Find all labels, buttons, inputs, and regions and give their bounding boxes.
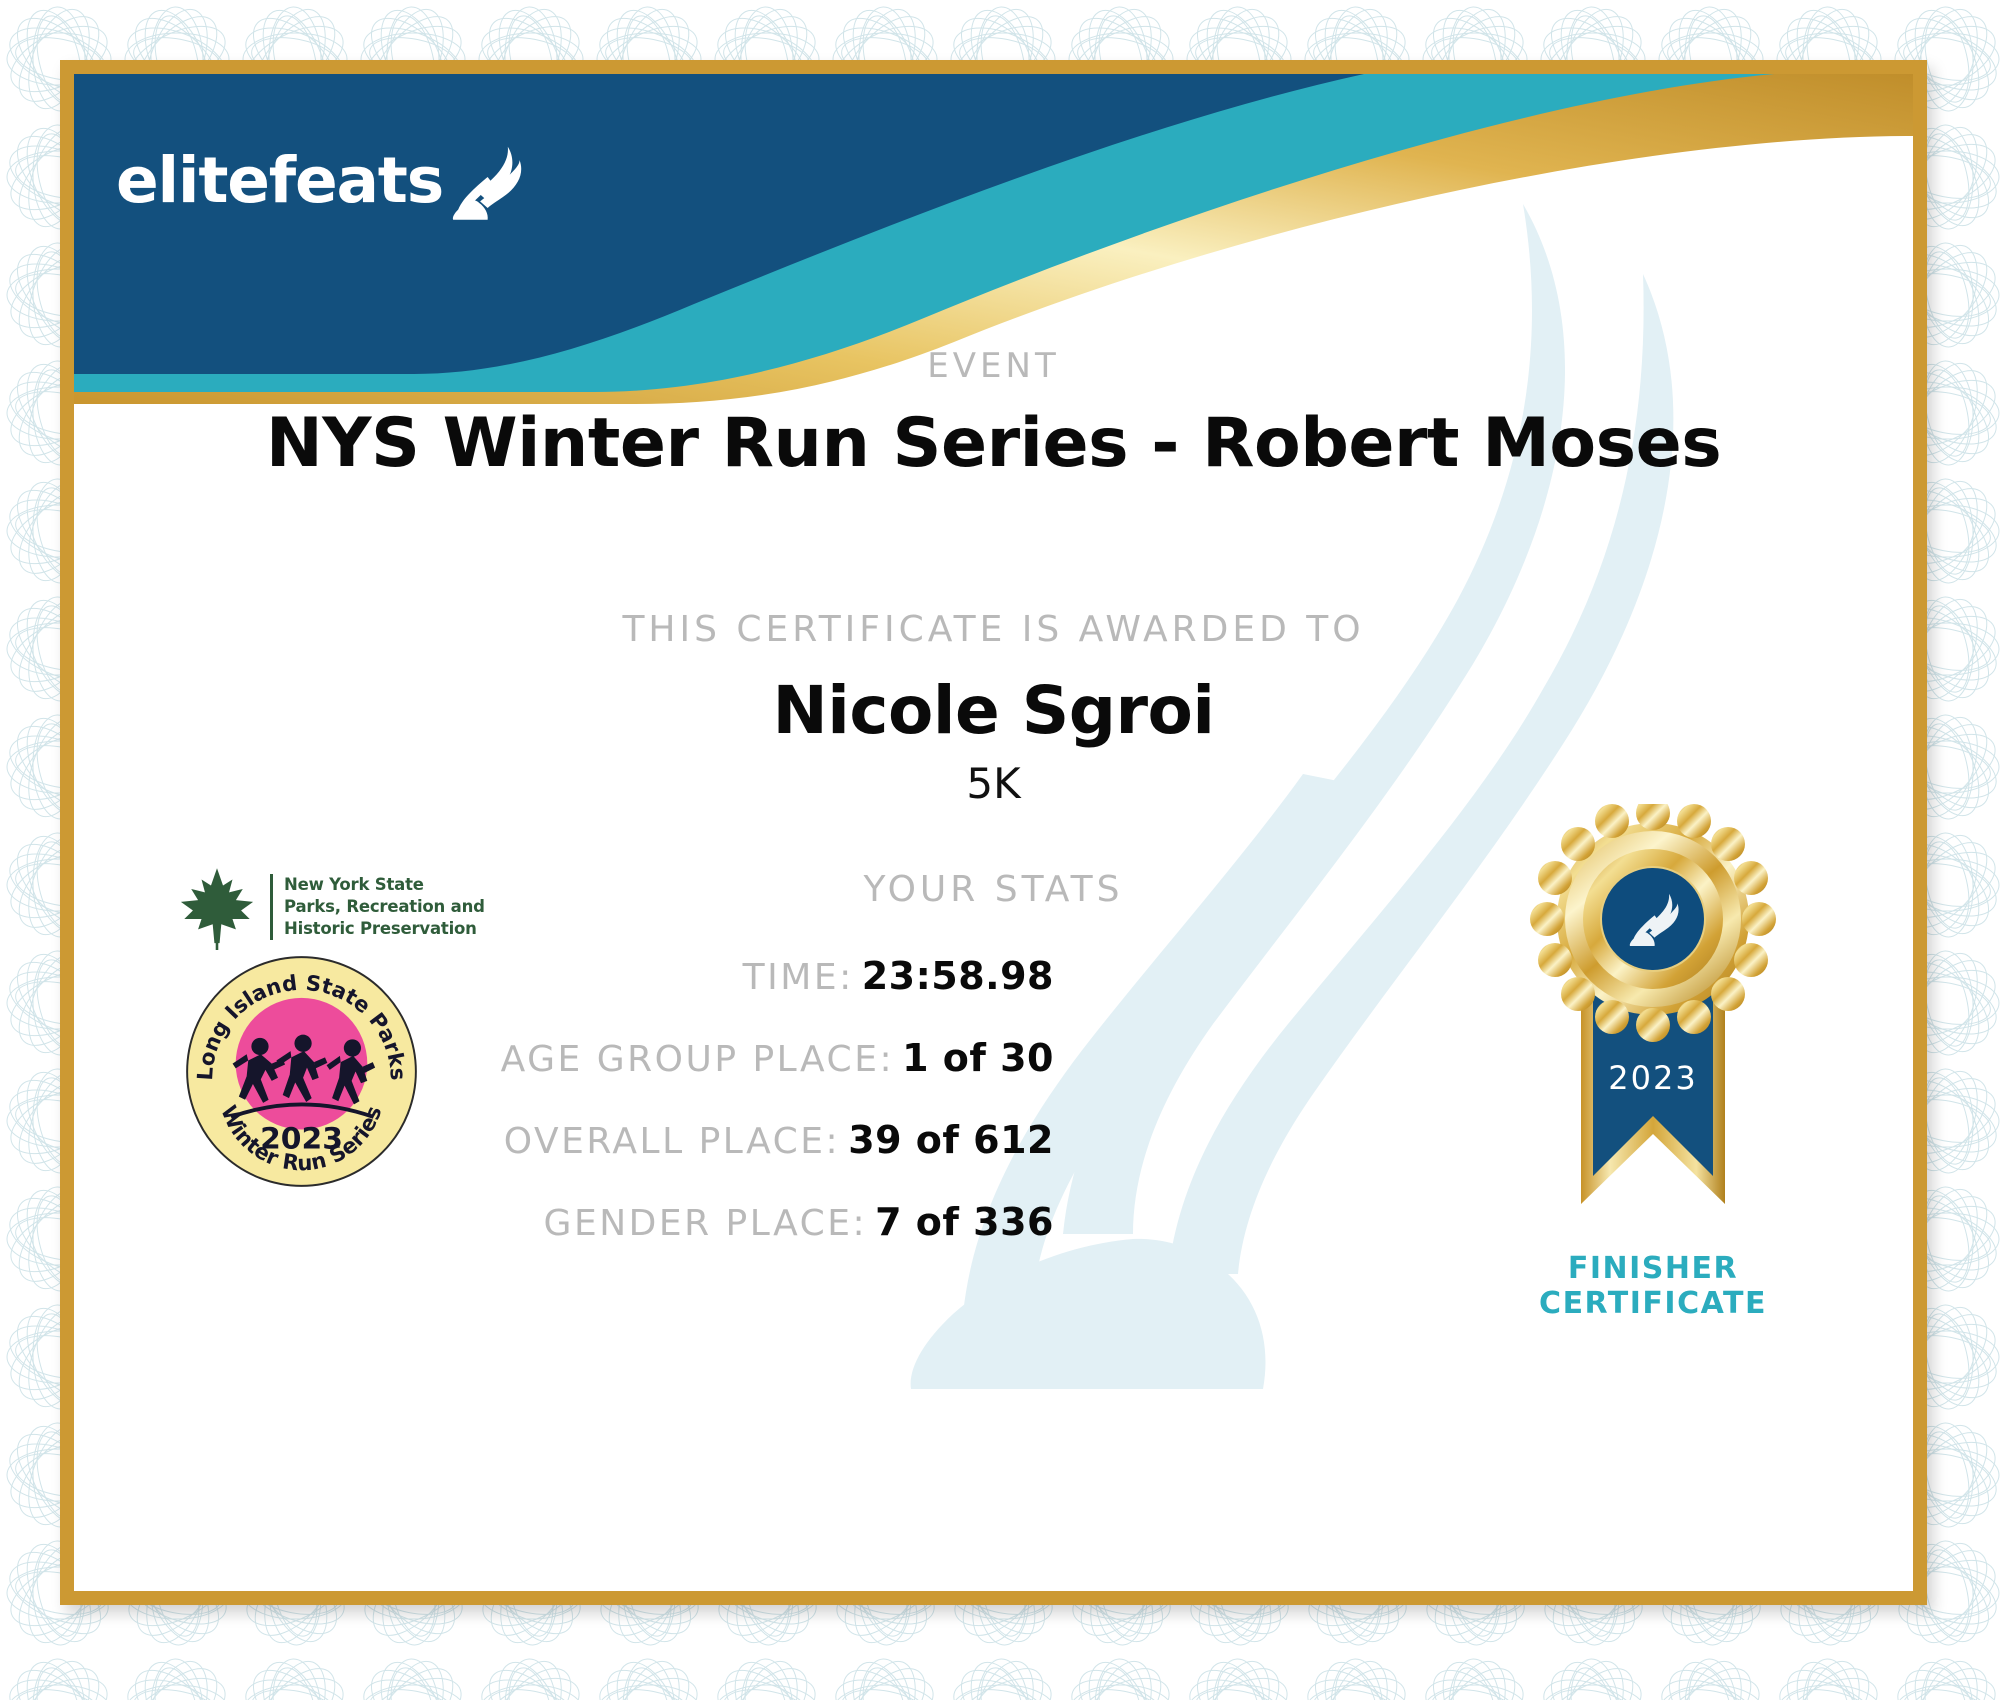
stat-value: 39 of 612 [848,1118,1054,1162]
nys-parks-wordmark: New York State Parks, Recreation and His… [270,874,485,940]
medal-graphic: 2023 [1503,804,1803,1244]
nys-parks-logo: New York State Parks, Recreation and His… [174,864,485,950]
nys-parks-line3: Historic Preservation [284,918,485,940]
event-label: EVENT [74,346,1913,386]
stat-key: TIME: [743,957,854,998]
winter-run-series-badge: 2023 Long Island State Parks Winter Run … [184,954,419,1189]
awarded-to-label: THIS CERTIFICATE IS AWARDED TO [74,609,1913,650]
stat-value: 23:58.98 [862,954,1054,998]
finisher-caption-line1: FINISHER [1503,1251,1803,1286]
brand-wordmark: elitefeats [116,149,443,212]
finisher-caption-line2: CERTIFICATE [1503,1286,1803,1321]
ribbon-year: 2023 [1608,1059,1697,1097]
nys-parks-line1: New York State [284,874,485,896]
nys-parks-line2: Parks, Recreation and [284,896,485,918]
elitefeats-logo: elitefeats [116,136,533,224]
event-title: NYS Winter Run Series - Robert Moses [74,404,1913,483]
maple-leaf-icon [174,864,260,950]
winged-foot-icon [449,140,533,224]
stat-row-gender-place: GENDER PLACE:7 of 336 [374,1200,1054,1244]
certificate-frame: elitefeats EVENT NYS Winter Run Series -… [60,60,1927,1605]
stat-key: GENDER PLACE: [544,1203,868,1244]
recipient-name: Nicole Sgroi [74,672,1913,749]
race-distance: 5K [74,759,1913,808]
stat-value: 1 of 30 [902,1036,1054,1080]
finisher-medal: 2023 [1503,804,1803,1322]
stat-key: OVERALL PLACE: [504,1121,840,1162]
sponsor-logos: New York State Parks, Recreation and His… [174,864,485,1194]
stat-key: AGE GROUP PLACE: [501,1039,894,1080]
finisher-certificate-caption: FINISHER CERTIFICATE [1503,1251,1803,1322]
stat-value: 7 of 336 [875,1200,1054,1244]
